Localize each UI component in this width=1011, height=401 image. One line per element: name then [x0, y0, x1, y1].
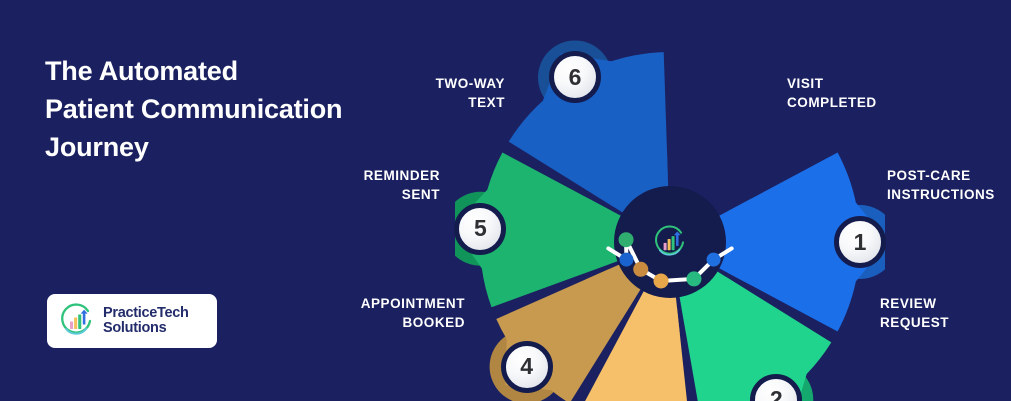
infographic-canvas: The Automated Patient Communication Jour… [0, 0, 1011, 401]
brand-name: PracticeTech Solutions [103, 306, 189, 336]
circular-growth-chart-icon [57, 302, 95, 340]
hub-node-blue-right [619, 253, 633, 267]
hub-node-amber-left [654, 273, 669, 288]
hub-node-green-left [686, 271, 701, 286]
step-number-badge-4[interactable]: 4 [501, 341, 553, 393]
step-label-4: VISIT COMPLETED [787, 74, 962, 112]
hub-node-blue-left [707, 253, 721, 267]
brand-logo: PracticeTech Solutions [47, 294, 217, 348]
brand-name-line-1: PracticeTech [103, 306, 189, 321]
step-label-5: POST-CARE INSTRUCTIONS [887, 166, 1011, 204]
step-label-3: TWO-WAY TEXT [340, 74, 505, 112]
step-label-2: REMINDER SENT [305, 166, 440, 204]
title-line-3: Journey [45, 128, 445, 166]
brand-name-line-2: Solutions [103, 321, 189, 336]
step-label-6: REVIEW REQUEST [880, 294, 1000, 332]
step-number-badge-1[interactable]: 1 [834, 216, 886, 268]
hub-node-amber-right [633, 262, 648, 277]
step-number-badge-5[interactable]: 5 [454, 203, 506, 255]
hub-node-green-right [619, 232, 634, 247]
step-label-1: APPOINTMENT BOOKED [355, 294, 465, 332]
